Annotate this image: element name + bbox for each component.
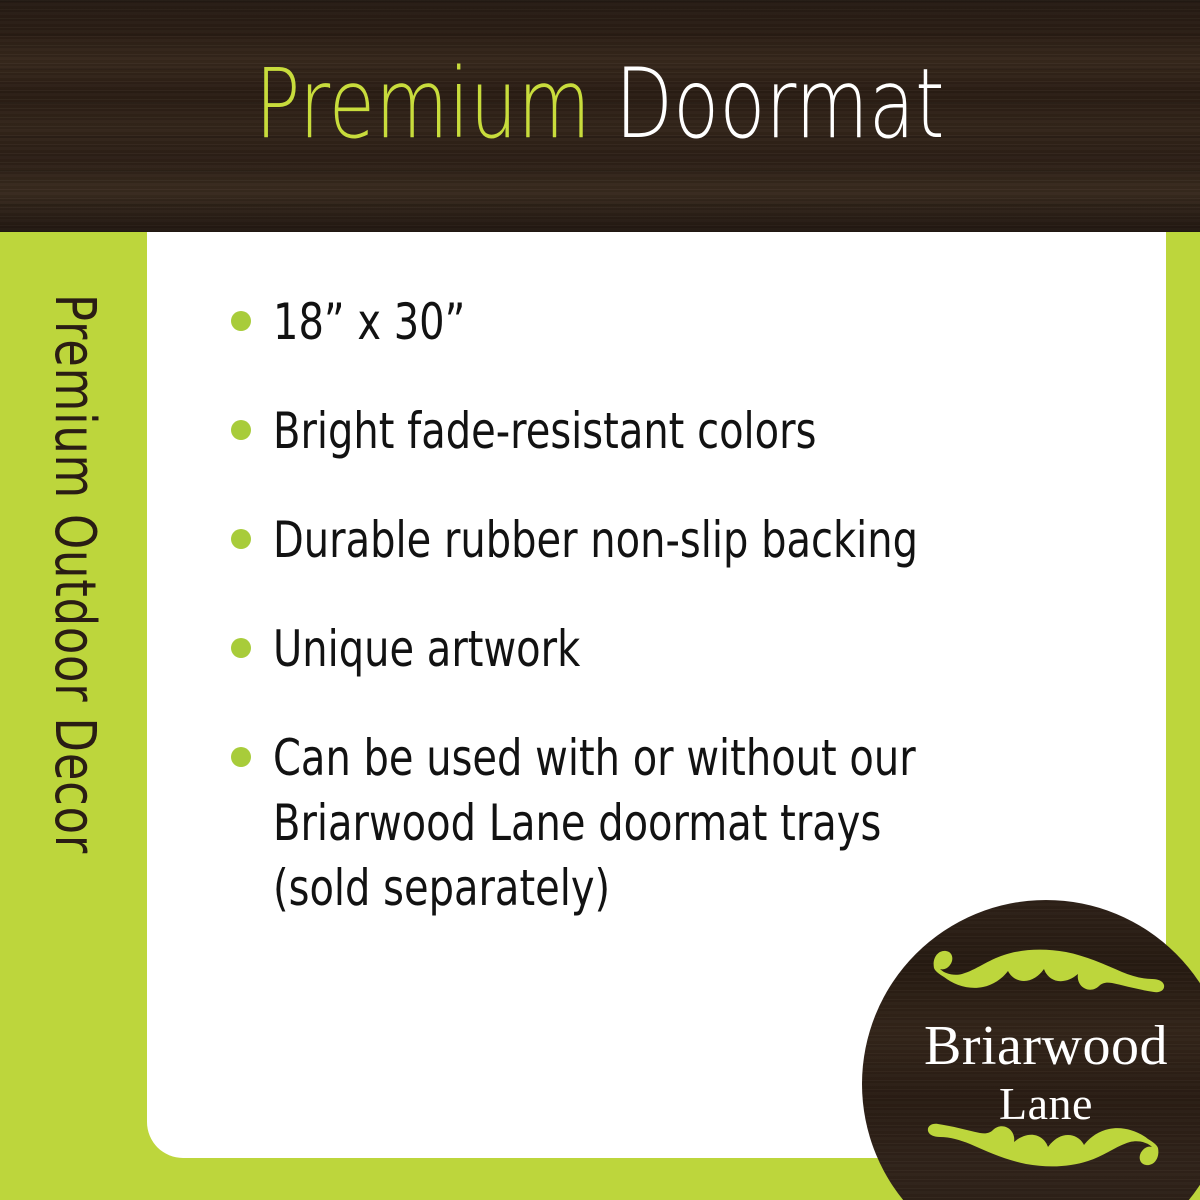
feature-text: 18” x 30” (273, 290, 465, 355)
list-item: Bright fade-resistant colors (225, 399, 1105, 464)
bullet-dot-icon (231, 638, 251, 658)
list-item: Can be used with or without our Briarwoo… (225, 726, 1105, 921)
feature-text: Durable rubber non-slip backing (273, 508, 918, 573)
bullet-dot-icon (231, 420, 251, 440)
brand-name-line1: Briarwood (862, 1018, 1200, 1074)
list-item: 18” x 30” (225, 290, 1105, 355)
page-title-space (591, 48, 615, 160)
brand-badge: Briarwood Lane (862, 900, 1200, 1200)
feature-list: 18” x 30” Bright fade-resistant colors D… (225, 290, 1105, 921)
oak-leaf-icon (926, 1108, 1166, 1170)
bullet-dot-icon (231, 311, 251, 331)
brand-badge-inner: Briarwood Lane (862, 900, 1200, 1200)
page-title-rest: Doormat (615, 48, 945, 160)
list-item: Durable rubber non-slip backing (225, 508, 1105, 573)
bullet-dot-icon (231, 747, 251, 767)
page-title-highlight: Premium (255, 48, 591, 160)
list-item: Unique artwork (225, 617, 1105, 682)
feature-text: Unique artwork (273, 617, 580, 682)
feature-text: Bright fade-resistant colors (273, 399, 816, 464)
feature-text: Can be used with or without our Briarwoo… (273, 726, 916, 921)
bullet-dot-icon (231, 529, 251, 549)
page-title: Premium Doormat (132, 56, 1068, 152)
oak-leaf-icon (926, 946, 1166, 1008)
product-infographic: Premium Doormat Premium Outdoor Decor 18… (0, 0, 1200, 1200)
